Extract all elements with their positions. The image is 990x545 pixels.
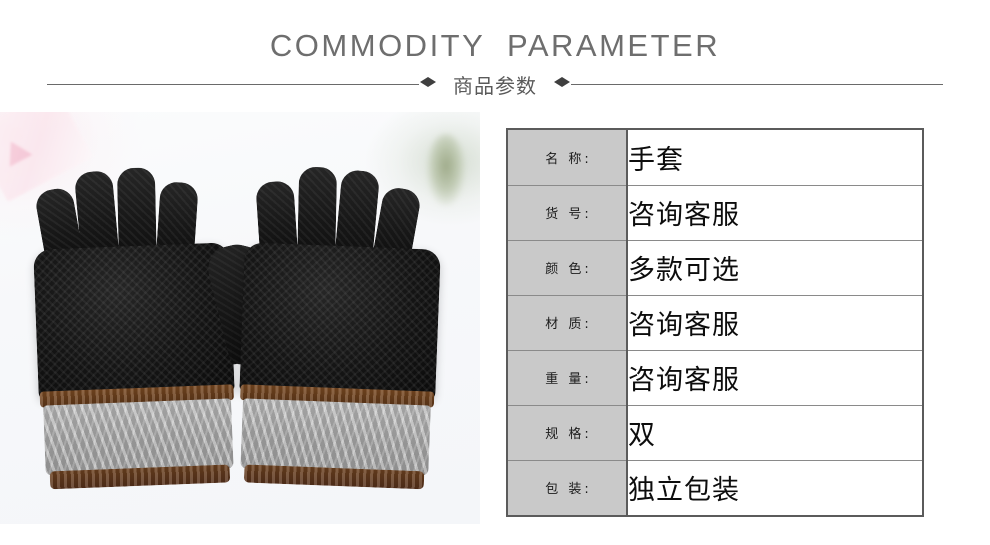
diamond-bullet-icon: [420, 82, 436, 87]
right-rule-group: [553, 82, 943, 87]
table-row: 名 称:手套: [508, 130, 922, 185]
glove-right: [236, 154, 445, 491]
spec-label-cell: 颜 色:: [508, 240, 627, 295]
specification-table: 名 称:手套货 号:咨询客服颜 色:多款可选材 质:咨询客服重 量:咨询客服规 …: [506, 128, 924, 517]
product-parameter-banner: COMMODITY PARAMETER 商品参数: [0, 0, 990, 545]
page-header: COMMODITY PARAMETER 商品参数: [0, 0, 990, 110]
spec-value-cell: 咨询客服: [627, 350, 922, 405]
product-photo: [0, 112, 480, 524]
right-rule-line: [571, 84, 943, 85]
glove-left: [30, 154, 239, 491]
table-row: 颜 色:多款可选: [508, 240, 922, 295]
spec-label-cell: 名 称:: [508, 130, 627, 185]
table-row: 重 量:咨询客服: [508, 350, 922, 405]
spec-value-cell: 咨询客服: [627, 295, 922, 350]
spec-label-cell: 材 质:: [508, 295, 627, 350]
diamond-bullet-icon: [554, 82, 570, 87]
glove-cuff: [43, 398, 234, 475]
page-title-english: COMMODITY PARAMETER: [0, 28, 990, 64]
glove-palm: [33, 242, 235, 399]
table-row: 包 装:独立包装: [508, 460, 922, 515]
spec-value-cell: 手套: [627, 130, 922, 185]
spec-value-cell: 双: [627, 405, 922, 460]
spec-value-cell: 独立包装: [627, 460, 922, 515]
page-title-chinese: 商品参数: [437, 70, 553, 99]
spec-value-cell: 咨询客服: [627, 185, 922, 240]
glove-cuff: [240, 398, 431, 475]
table-row: 材 质:咨询客服: [508, 295, 922, 350]
subtitle-row: 商品参数: [0, 68, 990, 100]
spec-label-cell: 重 量:: [508, 350, 627, 405]
glove-palm: [239, 242, 441, 399]
left-rule-line: [47, 84, 419, 85]
table-row: 规 格:双: [508, 405, 922, 460]
spec-value-cell: 多款可选: [627, 240, 922, 295]
table-row: 货 号:咨询客服: [508, 185, 922, 240]
spec-label-cell: 规 格:: [508, 405, 627, 460]
spec-label-cell: 包 装:: [508, 460, 627, 515]
spec-label-cell: 货 号:: [508, 185, 627, 240]
left-rule-group: [47, 82, 437, 87]
